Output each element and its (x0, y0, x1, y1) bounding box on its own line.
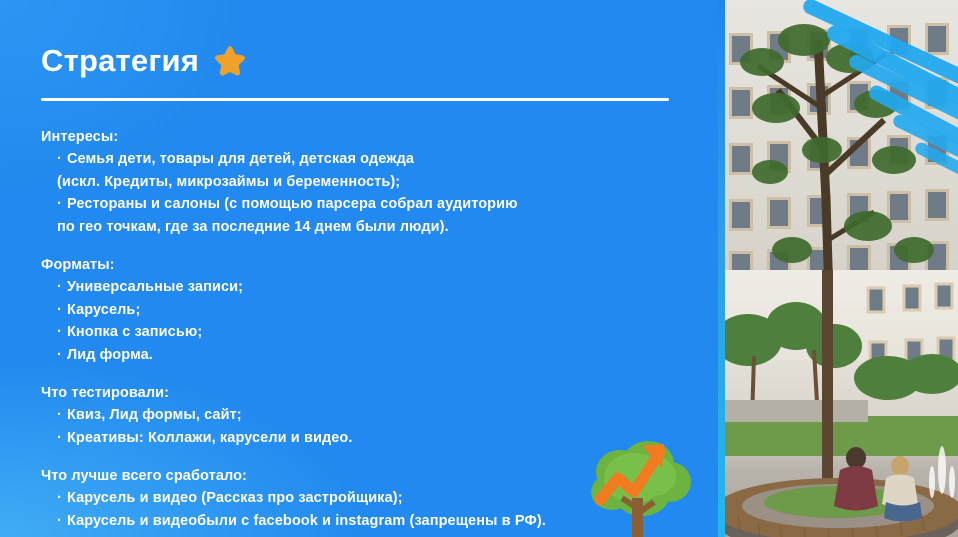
section-interests: Интересы: ·Семья дети, товары для детей,… (41, 126, 681, 238)
list-item: ·Семья дети, товары для детей, детская о… (41, 148, 681, 171)
slide-root: Стратегия Интересы: ·Семья дети, товары … (0, 0, 958, 537)
section-heading: Интересы: (41, 126, 681, 148)
section-heading: Что лучше всего сработало: (41, 465, 681, 487)
list-item: ·Карусель и видеобыли с facebook и insta… (41, 510, 681, 533)
list-item: по гео точкам, где за последние 14 днем … (41, 216, 681, 239)
bullet-icon: · (57, 299, 62, 322)
list-item-text: Карусель; (67, 302, 140, 318)
list-item-text: Рестораны и салоны (с помощью парсера со… (67, 196, 518, 212)
content-area: Стратегия Интересы: ·Семья дети, товары … (0, 0, 718, 537)
list-item: (искл. Кредиты, микрозаймы и беременност… (41, 171, 681, 194)
list-item-text: Квиз, Лид формы, сайт; (67, 407, 242, 423)
bullet-icon: · (57, 344, 62, 367)
section-tested: Что тестировали: ·Квиз, Лид формы, сайт;… (41, 382, 681, 449)
blue-brush-strokes (718, 0, 958, 200)
list-item: ·Карусель; (41, 299, 681, 322)
residential-courtyard-photo (718, 0, 958, 537)
title-row: Стратегия (41, 42, 247, 78)
list-item-text: Семья дети, товары для детей, детская од… (67, 151, 414, 167)
bullet-icon: · (57, 510, 62, 533)
list-item-text: Карусель и видеобыли с facebook и instag… (67, 513, 546, 529)
list-item: ·Рестораны и салоны (с помощью парсера с… (41, 193, 681, 216)
section-best-results: Что лучше всего сработало: ·Карусель и в… (41, 465, 681, 532)
bullet-icon: · (57, 487, 62, 510)
section-heading: Что тестировали: (41, 382, 681, 404)
list-item-text: (искл. Кредиты, микрозаймы и беременност… (57, 174, 400, 190)
list-item-text: Кнопка с записью; (67, 324, 202, 340)
page-title: Стратегия (41, 45, 199, 76)
section-formats: Форматы: ·Универсальные записи; ·Карусел… (41, 254, 681, 366)
list-item: ·Креативы: Коллажи, карусели и видео. (41, 427, 681, 450)
list-item-text: Универсальные записи; (67, 279, 243, 295)
list-item: ·Универсальные записи; (41, 276, 681, 299)
list-item-text: по гео точкам, где за последние 14 днем … (57, 219, 449, 235)
person-left (834, 447, 878, 511)
courtyard-scene (718, 270, 958, 537)
list-item-text: Креативы: Коллажи, карусели и видео. (67, 430, 353, 446)
bullet-icon: · (57, 276, 62, 299)
bullet-icon: · (57, 321, 62, 344)
star-icon (213, 44, 247, 78)
list-item: ·Лид форма. (41, 344, 681, 367)
list-item: ·Карусель и видео (Рассказ про застройщи… (41, 487, 681, 510)
bullet-icon: · (57, 427, 62, 450)
list-item-text: Карусель и видео (Рассказ про застройщик… (67, 490, 403, 506)
section-heading: Форматы: (41, 254, 681, 276)
bullet-icon: · (57, 148, 62, 171)
body-text: Интересы: ·Семья дети, товары для детей,… (41, 126, 681, 532)
list-item: ·Кнопка с записью; (41, 321, 681, 344)
title-divider (41, 98, 669, 101)
photo-left-edge (718, 0, 725, 537)
list-item-text: Лид форма. (67, 347, 153, 363)
list-item: ·Квиз, Лид формы, сайт; (41, 404, 681, 427)
bullet-icon: · (57, 193, 62, 216)
bullet-icon: · (57, 404, 62, 427)
